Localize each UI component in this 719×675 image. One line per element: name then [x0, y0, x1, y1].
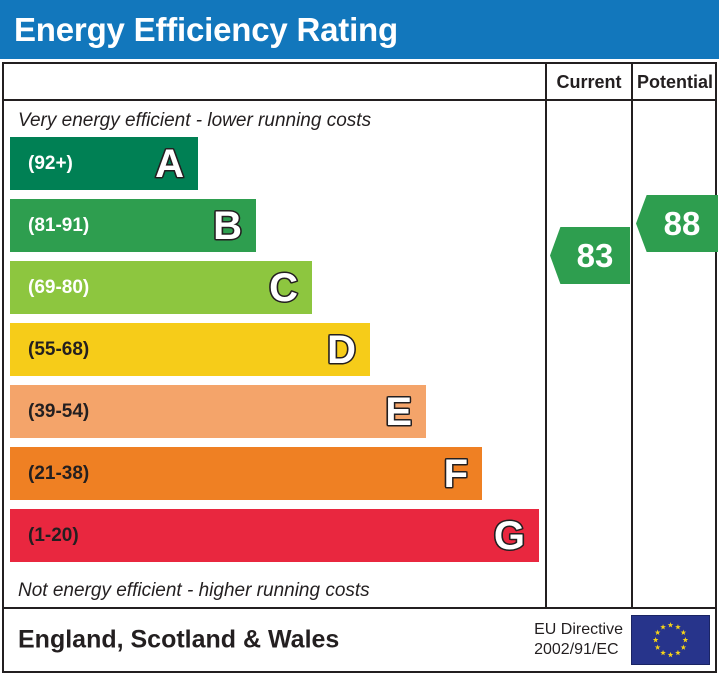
band-letter-c: C	[269, 268, 298, 308]
band-range-b: (81-91)	[10, 216, 89, 235]
band-range-d: (55-68)	[10, 340, 89, 359]
current-rating-arrow: 83	[550, 227, 630, 284]
rating-band-c: (69-80)C	[10, 261, 312, 314]
region-label: England, Scotland & Wales	[18, 626, 339, 655]
page-title: Energy Efficiency Rating	[0, 13, 398, 46]
band-range-e: (39-54)	[10, 402, 89, 421]
rating-band-f: (21-38)F	[10, 447, 482, 500]
eu-directive-line2: 2002/91/EC	[534, 640, 623, 660]
column-divider-current	[545, 64, 547, 607]
band-letter-g: G	[494, 516, 525, 556]
potential-rating-arrow-value: 88	[664, 205, 701, 243]
column-divider-potential	[631, 64, 633, 607]
band-range-c: (69-80)	[10, 278, 89, 297]
caption-top: Very energy efficient - lower running co…	[4, 103, 545, 139]
band-range-f: (21-38)	[10, 464, 89, 483]
band-letter-f: F	[444, 454, 468, 494]
band-letter-a: A	[155, 144, 184, 184]
rating-band-a: (92+)A	[10, 137, 198, 190]
eu-directive-label: EU Directive 2002/91/EC	[534, 620, 623, 660]
ratings-table: Current Potential Very energy efficient …	[2, 62, 717, 609]
rating-band-b: (81-91)B	[10, 199, 256, 252]
header-banner: Energy Efficiency Rating	[0, 0, 719, 59]
eu-directive-line1: EU Directive	[534, 620, 623, 640]
band-range-g: (1-20)	[10, 526, 79, 545]
column-header-current: Current	[547, 64, 631, 101]
potential-rating-arrow: 88	[636, 195, 718, 252]
band-letter-d: D	[327, 330, 356, 370]
rating-band-g: (1-20)G	[10, 509, 539, 562]
current-rating-arrow-value: 83	[577, 237, 614, 275]
rating-bands: (92+)A(81-91)B(69-80)C(55-68)D(39-54)E(2…	[4, 137, 545, 573]
footer-bar: England, Scotland & Wales EU Directive 2…	[2, 609, 717, 673]
band-letter-e: E	[385, 392, 412, 432]
band-letter-b: B	[213, 206, 242, 246]
rating-band-e: (39-54)E	[10, 385, 426, 438]
rating-band-d: (55-68)D	[10, 323, 370, 376]
caption-bottom: Not energy efficient - higher running co…	[4, 573, 545, 609]
band-range-a: (92+)	[10, 154, 73, 173]
column-header-potential: Potential	[633, 64, 717, 101]
energy-efficiency-rating-certificate: Energy Efficiency Rating Current Potenti…	[0, 0, 719, 675]
eu-flag-icon	[631, 615, 710, 665]
